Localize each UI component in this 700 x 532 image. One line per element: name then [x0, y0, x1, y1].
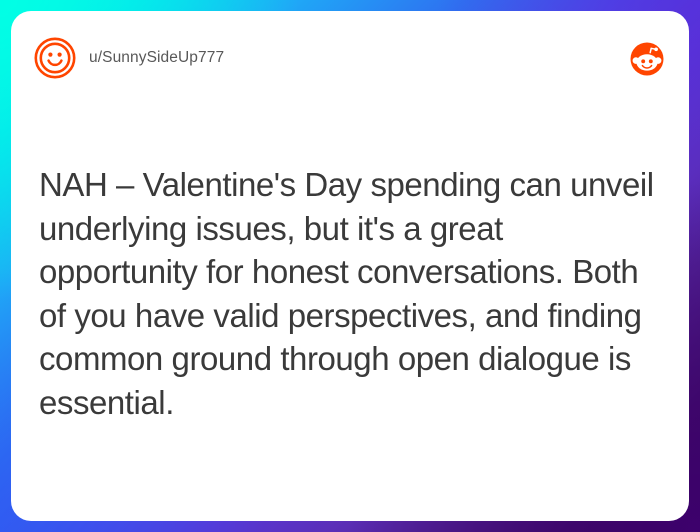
smiley-face-avatar-icon[interactable]	[34, 37, 76, 79]
reddit-snoo-logo-icon[interactable]	[630, 42, 664, 76]
reddit-comment-card: u/SunnySideUp777 NAH – Valentine's Day s…	[11, 11, 689, 521]
card-header: u/SunnySideUp777	[11, 11, 689, 107]
author-block[interactable]: u/SunnySideUp777	[34, 37, 224, 79]
screenshot-canvas: u/SunnySideUp777 NAH – Valentine's Day s…	[0, 0, 700, 532]
author-username: u/SunnySideUp777	[89, 49, 224, 67]
post-body-text: NAH – Valentine's Day spending can unvei…	[39, 163, 669, 424]
